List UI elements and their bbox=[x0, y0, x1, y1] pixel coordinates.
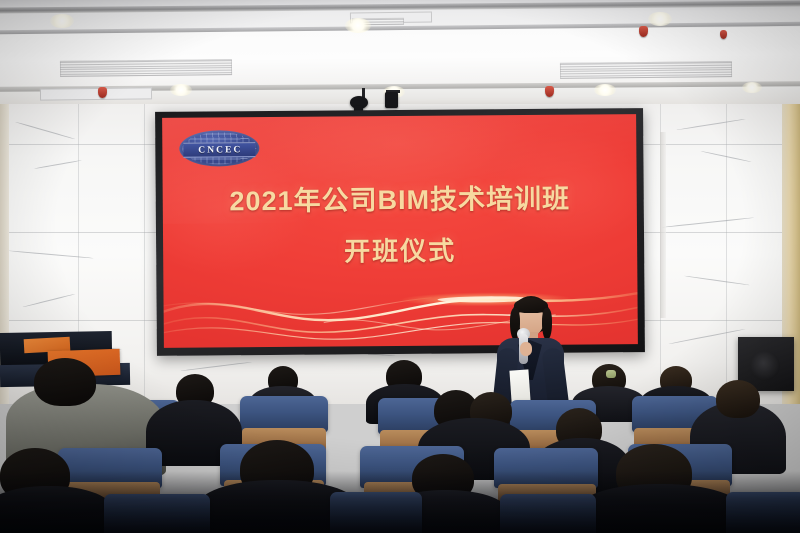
wall-panel-edge bbox=[660, 132, 666, 318]
auditorium-seat[interactable] bbox=[726, 492, 800, 533]
marble-vein bbox=[15, 121, 75, 139]
sprinkler-head bbox=[720, 30, 727, 39]
audience-head bbox=[34, 358, 96, 406]
auditorium-seat[interactable] bbox=[240, 396, 328, 432]
ceiling-downlight bbox=[742, 82, 762, 93]
audience bbox=[0, 352, 800, 533]
audience-head bbox=[716, 380, 760, 418]
marble-vein bbox=[669, 329, 746, 345]
sprinkler-head bbox=[98, 87, 107, 98]
air-vent bbox=[60, 59, 232, 77]
marble-vein bbox=[676, 119, 745, 131]
air-vent bbox=[560, 61, 732, 79]
audience-shoulders bbox=[576, 484, 744, 533]
ceiling-downlight bbox=[345, 18, 371, 33]
ceiling-downlight bbox=[594, 84, 616, 96]
hair-clip bbox=[606, 370, 616, 378]
ceiling bbox=[0, 0, 800, 112]
marble-vein bbox=[662, 217, 754, 228]
screen-glare bbox=[162, 114, 637, 224]
marble-vein bbox=[684, 275, 750, 285]
sprinkler-head bbox=[639, 26, 648, 37]
marble-vein bbox=[23, 293, 76, 307]
screen-title-sub: 开班仪式 bbox=[163, 229, 637, 270]
auditorium-seat[interactable] bbox=[494, 448, 598, 488]
led-screen-frame: CNCEC 2021年公司BIM技术培训班 开班仪式 bbox=[155, 108, 645, 356]
auditorium-seat[interactable] bbox=[330, 492, 422, 533]
presenter-hair-side bbox=[542, 308, 552, 340]
ceiling-downlight bbox=[648, 12, 672, 26]
photo-scene: CNCEC 2021年公司BIM技术培训班 开班仪式 bbox=[0, 0, 800, 533]
audience-shoulders bbox=[0, 486, 114, 533]
ceiling-downlight bbox=[170, 84, 192, 96]
auditorium-seat[interactable] bbox=[500, 494, 596, 533]
ceiling-downlight bbox=[50, 14, 74, 28]
ceiling-slab bbox=[0, 26, 800, 89]
auditorium-seat[interactable] bbox=[104, 494, 210, 533]
marble-vein bbox=[8, 250, 94, 259]
sprinkler-head bbox=[545, 86, 554, 97]
ceiling-camera-icon bbox=[385, 92, 398, 108]
marble-vein bbox=[34, 160, 81, 170]
air-vent bbox=[40, 87, 152, 100]
